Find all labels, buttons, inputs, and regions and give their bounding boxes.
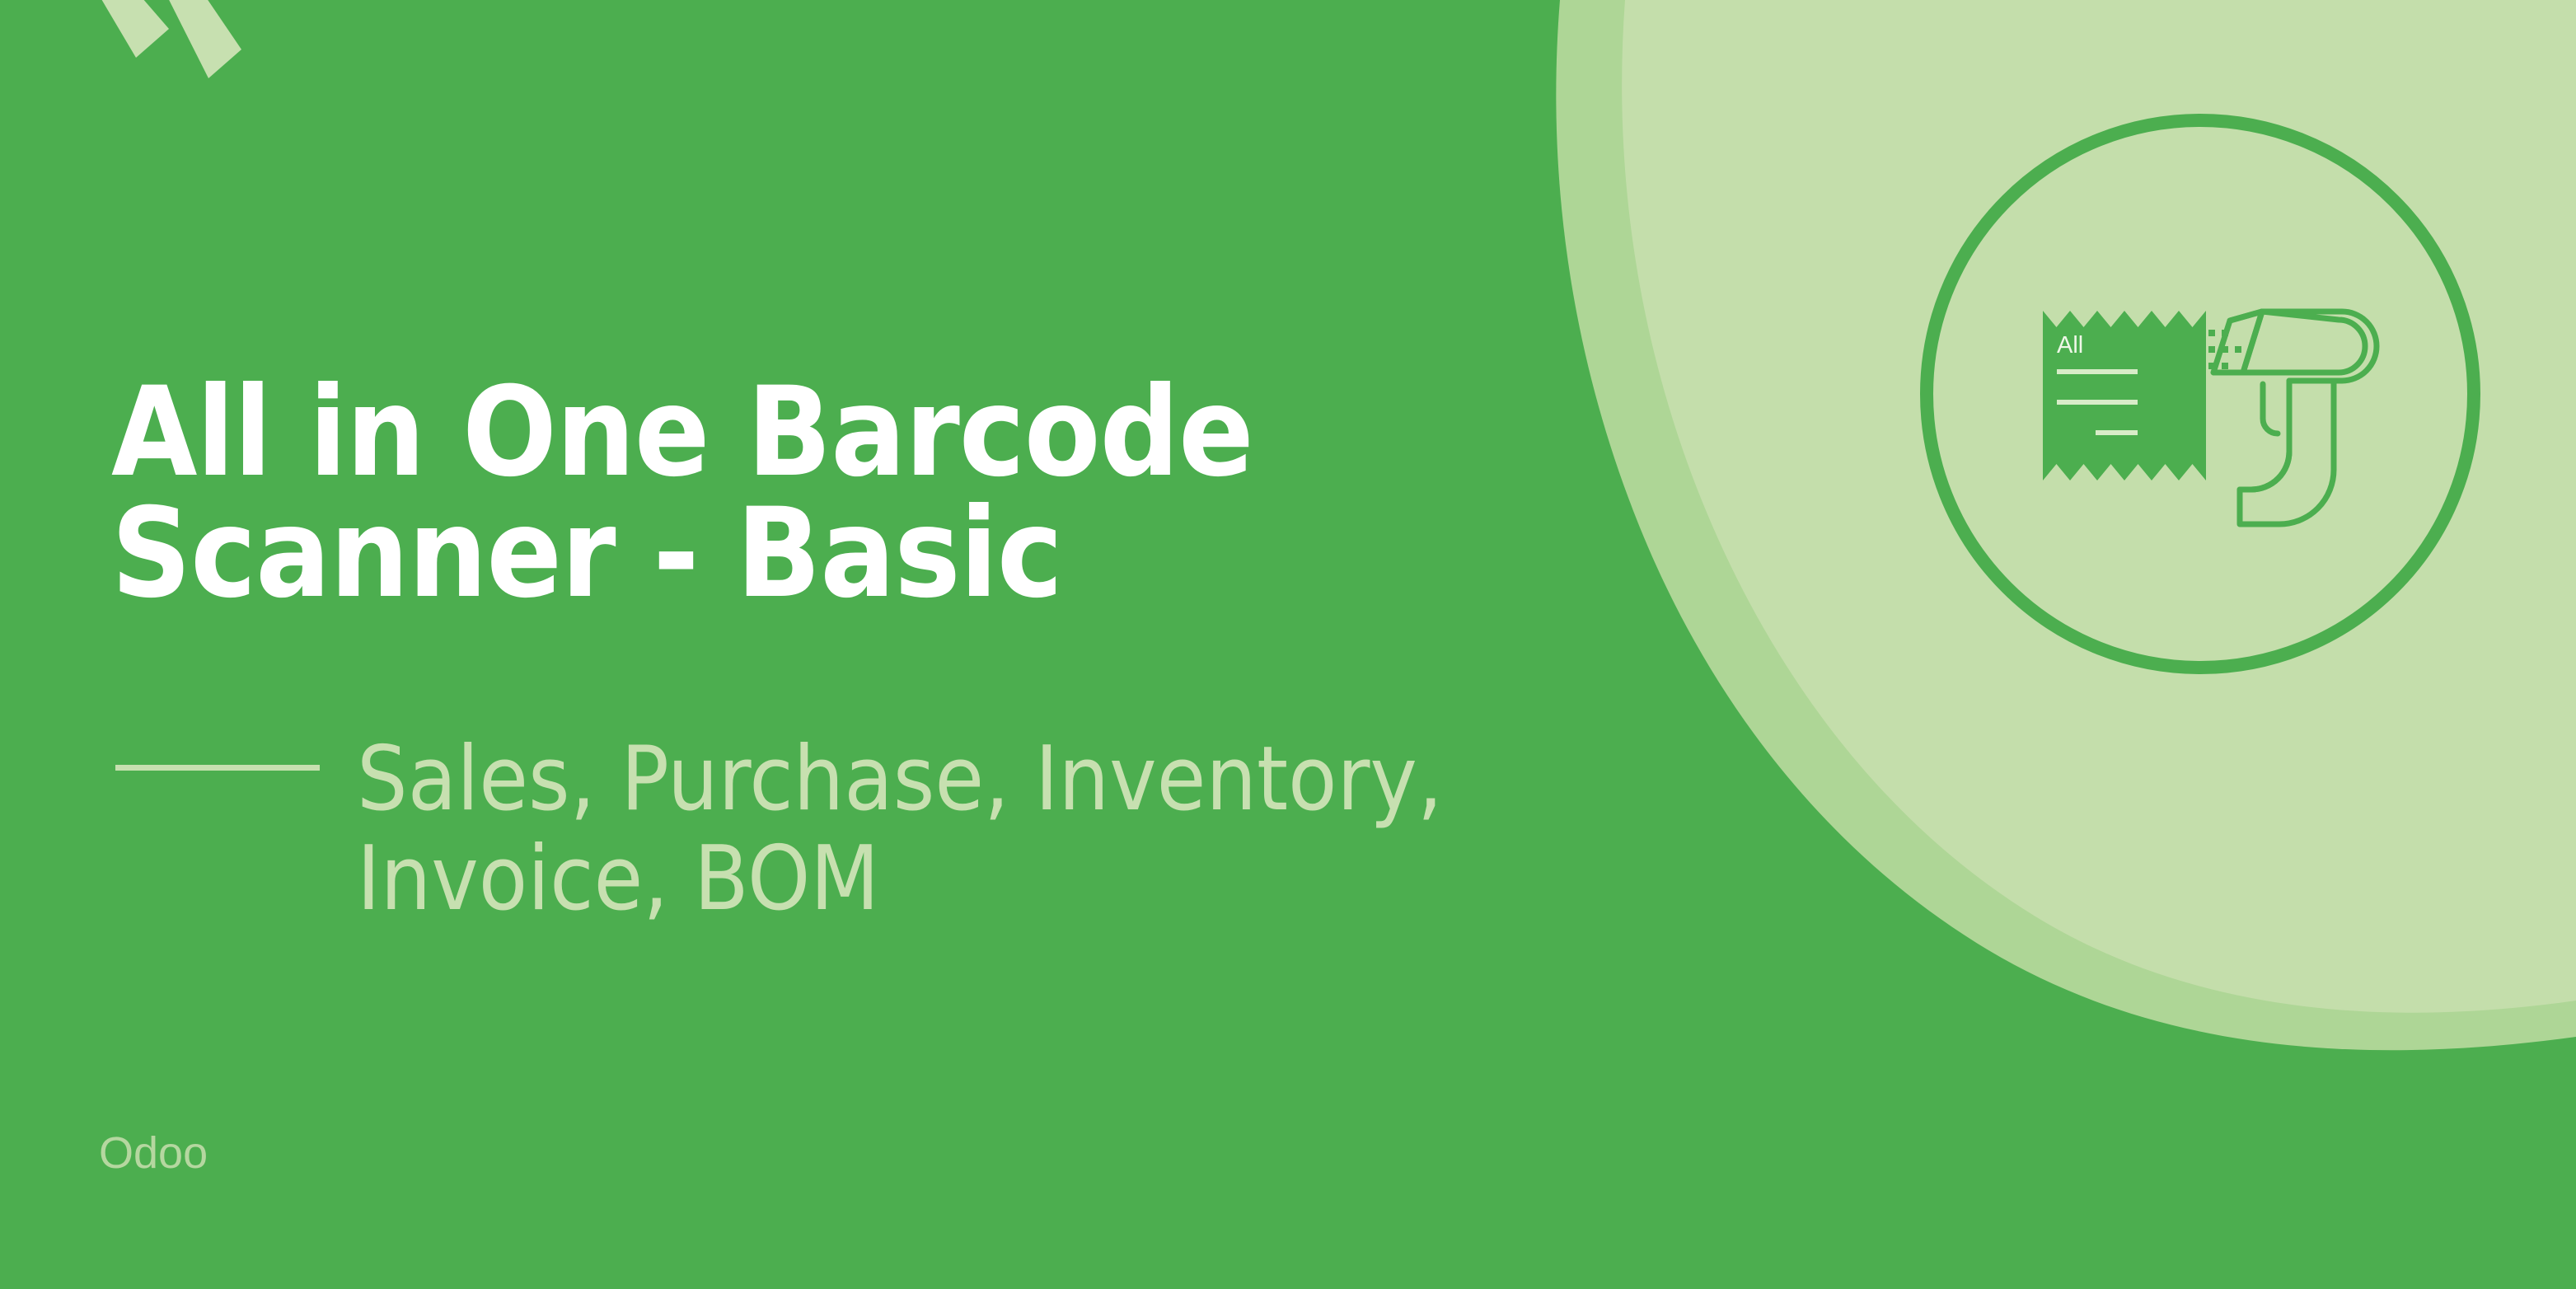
subtitle-rule (115, 765, 320, 771)
brand-label: Odoo (99, 1131, 208, 1175)
banner-content: All in One Barcode Scanner - Basic Sales… (0, 0, 2576, 1289)
page-title: All in One Barcode Scanner - Basic (111, 373, 1512, 615)
subtitle: Sales, Purchase, Inventory, Invoice, BOM (357, 730, 1443, 930)
subtitle-block: Sales, Purchase, Inventory, Invoice, BOM (115, 730, 1805, 930)
promo-banner: All (0, 0, 2576, 1289)
title-block: All in One Barcode Scanner - Basic (111, 373, 1512, 615)
